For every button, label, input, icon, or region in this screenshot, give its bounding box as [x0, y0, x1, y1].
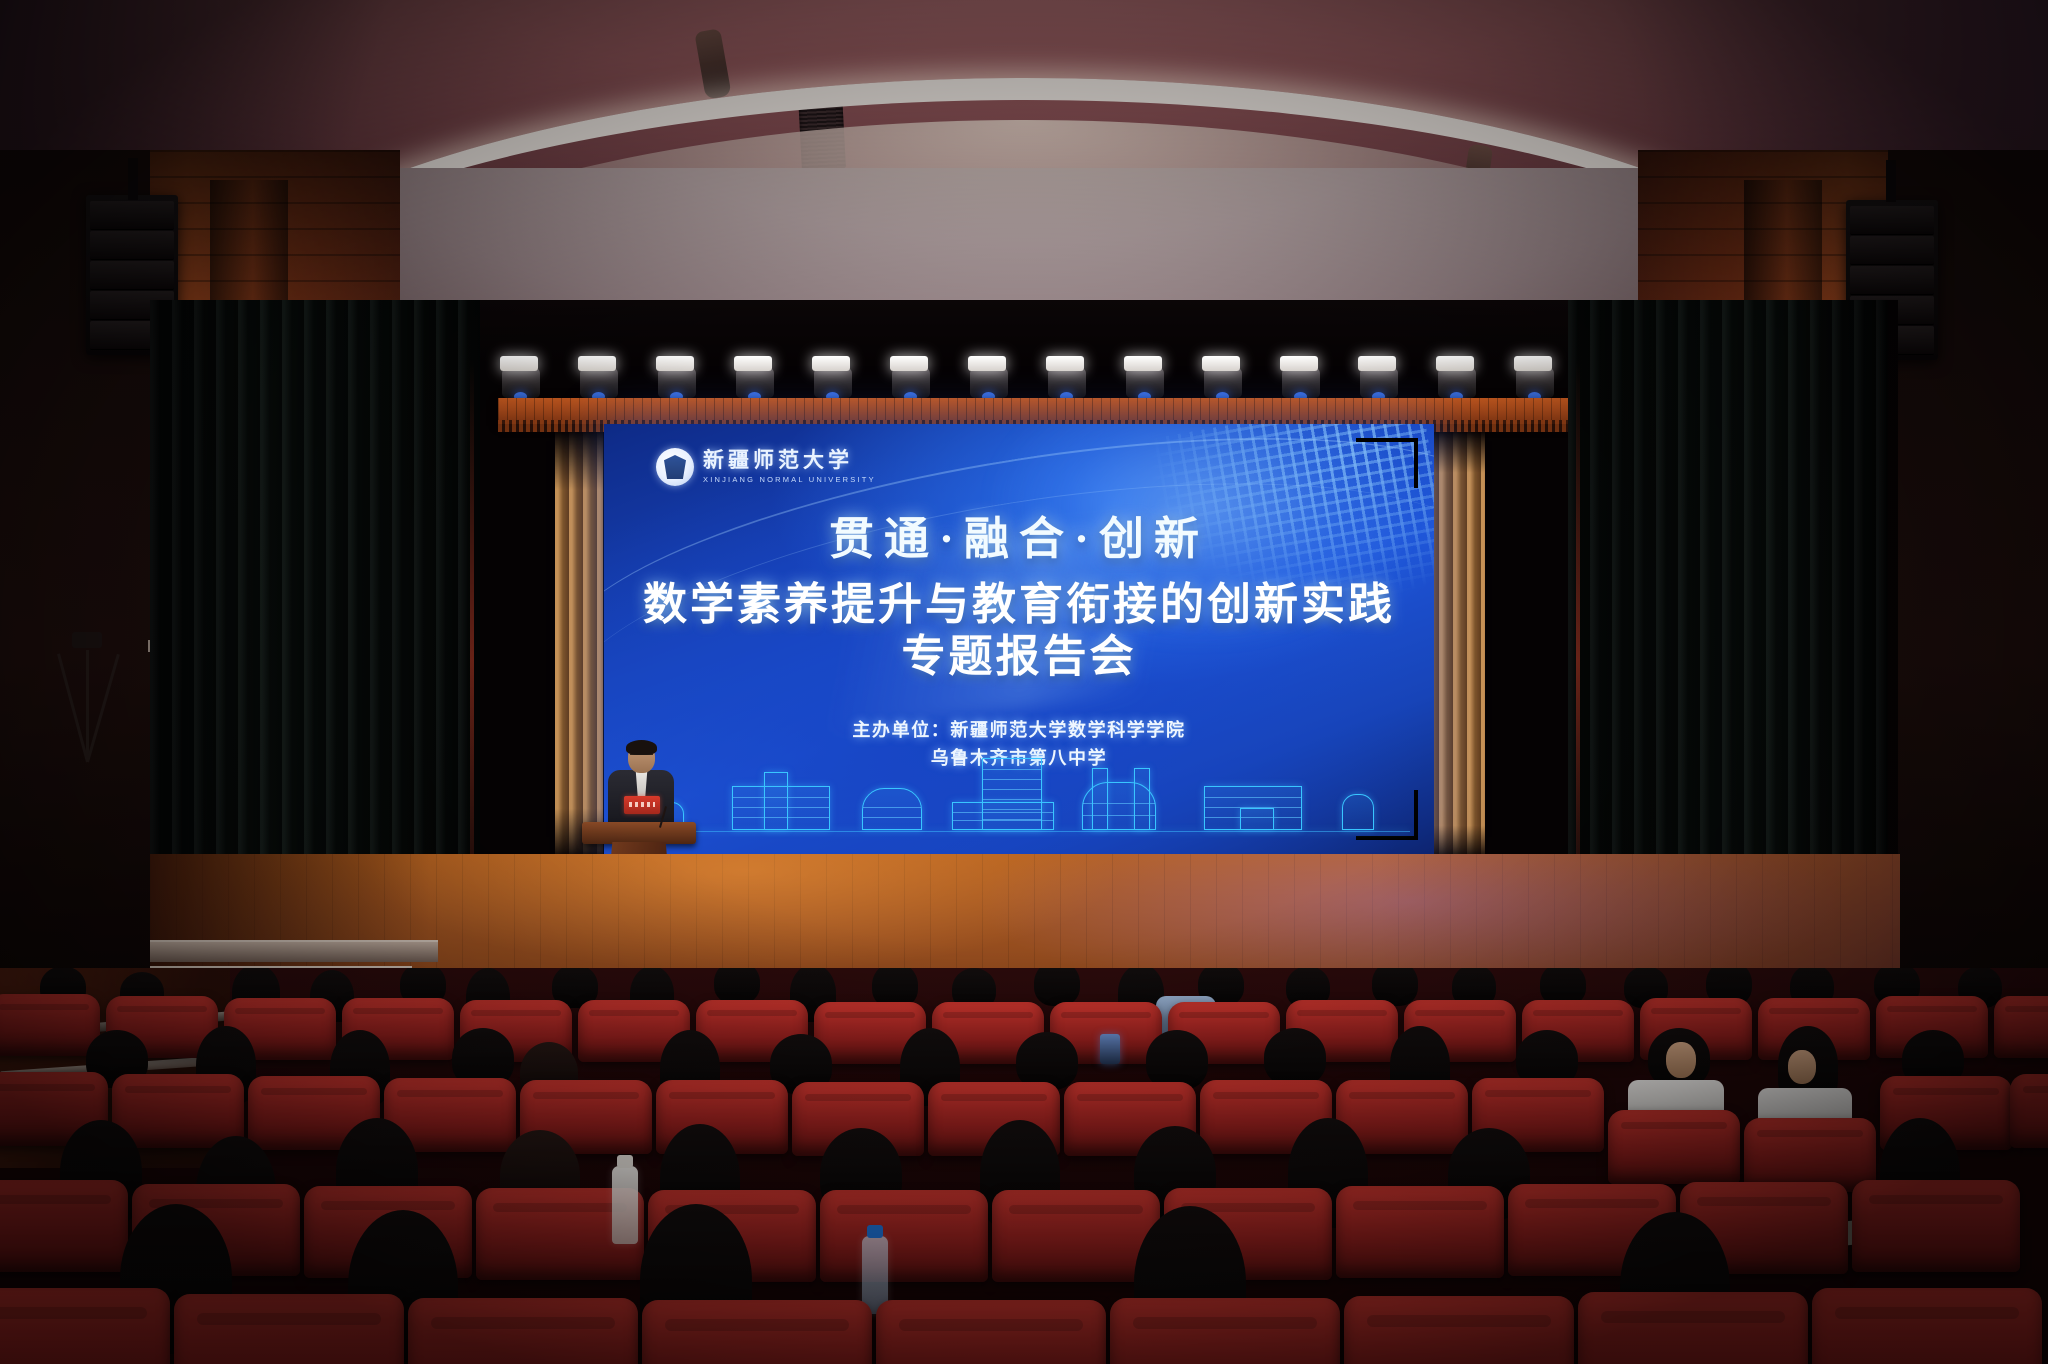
audience-seat — [1110, 1298, 1340, 1364]
side-drape-right — [1425, 430, 1485, 860]
skyline-building — [764, 772, 788, 830]
camera-tripod — [62, 632, 114, 762]
audience-seat — [820, 1190, 988, 1282]
corner-bracket-top-right-icon — [1356, 438, 1418, 488]
audience-seat — [1852, 1180, 2020, 1272]
phone-screen — [1100, 1034, 1120, 1064]
screen-headline: 贯通·融合·创新 — [604, 516, 1434, 563]
audience-face — [1788, 1050, 1816, 1084]
led-screen: 新疆师范大学 XINJIANG NORMAL UNIVERSITY 贯通·融合·… — [604, 424, 1434, 854]
audience-seat — [0, 1180, 128, 1272]
glasses-icon — [630, 754, 653, 760]
audience-head — [1146, 1030, 1208, 1090]
audience-seat — [1994, 996, 2048, 1058]
audience-seat — [1812, 1288, 2042, 1364]
skyline-graphic — [604, 746, 1434, 838]
stage-step — [150, 940, 438, 962]
lighting-bar — [498, 352, 1573, 402]
audience-seat — [0, 1288, 170, 1364]
audience-seat — [642, 1300, 872, 1364]
audience-head — [1264, 1028, 1326, 1086]
audience-seat — [174, 1294, 404, 1364]
audience-seat — [1336, 1186, 1504, 1278]
university-logo: 新疆师范大学 XINJIANG NORMAL UNIVERSITY — [656, 448, 876, 486]
audience-seat — [1608, 1110, 1740, 1184]
audience-seat — [2010, 1074, 2048, 1148]
university-name-en: XINJIANG NORMAL UNIVERSITY — [703, 475, 876, 484]
screen-subtitle-line-1: 数学素养提升与教育衔接的创新实践 — [604, 579, 1434, 631]
audience-seat — [1344, 1296, 1574, 1364]
audience-seat — [1744, 1118, 1876, 1192]
university-name-cn: 新疆师范大学 — [703, 450, 876, 471]
podium-top — [582, 822, 696, 844]
skyline-building — [1342, 794, 1374, 830]
audience-seat — [0, 994, 100, 1056]
audience-area — [0, 968, 2048, 1364]
audience-face — [1666, 1042, 1696, 1078]
skyline-building — [982, 758, 1042, 830]
skyline-groundline — [628, 831, 1410, 833]
audience-head — [714, 968, 760, 1004]
speaker-bracket-left — [128, 158, 138, 200]
skyline-building — [1240, 808, 1274, 830]
university-seal-icon — [656, 448, 694, 486]
audience-seat — [876, 1300, 1106, 1364]
speaker-hair — [626, 740, 657, 755]
auditorium-photo: 新疆师范大学 XINJIANG NORMAL UNIVERSITY 贯通·融合·… — [0, 0, 2048, 1364]
screen-subtitle-line-2: 专题报告会 — [604, 631, 1434, 683]
audience-seat — [408, 1298, 638, 1364]
speaker-person — [606, 742, 676, 830]
speaker-name-card — [624, 796, 660, 814]
skyline-building — [1092, 768, 1108, 830]
water-bottle — [612, 1166, 638, 1244]
speaker-bracket-right — [1886, 160, 1896, 202]
skyline-building — [862, 788, 922, 830]
screen-text-block: 贯通·融合·创新 数学素养提升与教育衔接的创新实践 专题报告会 主办单位：新疆师… — [604, 516, 1434, 773]
host-line-1: 主办单位：新疆师范大学数学科学学院 — [604, 717, 1434, 745]
audience-seat — [1578, 1292, 1808, 1364]
audience-head — [1034, 968, 1080, 1006]
side-drape-left — [555, 430, 603, 860]
skyline-building — [1134, 768, 1150, 830]
